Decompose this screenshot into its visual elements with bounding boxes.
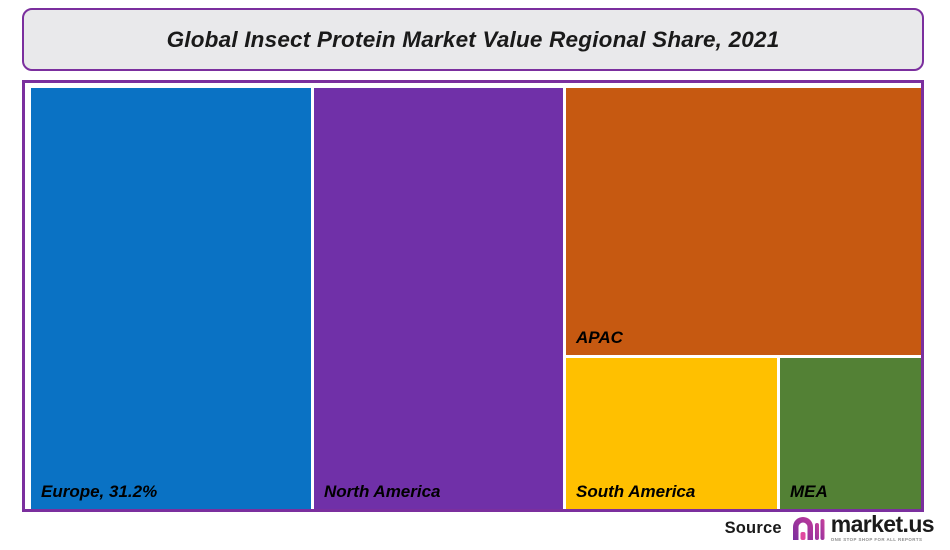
treemap-tile-apac[interactable]: APAC: [566, 88, 921, 355]
brand-tagline: ONE STOP SHOP FOR ALL REPORTS: [831, 538, 934, 542]
treemap-tile-south-america[interactable]: South America: [566, 358, 777, 509]
treemap-tile-europe[interactable]: Europe, 31.2%: [31, 88, 311, 509]
market-us-logo[interactable]: market.us ONE STOP SHOP FOR ALL REPORTS: [791, 513, 934, 542]
treemap-tile-north-america[interactable]: North America: [314, 88, 563, 509]
source-label: Source: [725, 519, 782, 538]
chart-title-panel: Global Insect Protein Market Value Regio…: [22, 8, 924, 71]
treemap-tile-label-south-america: South America: [576, 483, 695, 502]
treemap-tile-label-mea: MEA: [790, 483, 828, 502]
treemap-tile-mea[interactable]: MEA: [780, 358, 921, 509]
brand-name: market.us: [831, 513, 934, 536]
treemap-tile-label-north-america: North America: [324, 483, 441, 502]
source-bar: Source: [725, 508, 934, 548]
market-us-bars-logo-icon: [791, 515, 825, 542]
plot-frame: Europe, 31.2% North America APAC South A…: [22, 80, 924, 512]
treemap-tile-label-apac: APAC: [576, 329, 623, 348]
treemap: Europe, 31.2% North America APAC South A…: [25, 83, 921, 509]
page-title: Global Insect Protein Market Value Regio…: [167, 27, 780, 53]
treemap-tile-label-europe: Europe, 31.2%: [41, 483, 157, 502]
brand-text: market.us ONE STOP SHOP FOR ALL REPORTS: [831, 513, 934, 542]
chart-canvas: Global Insect Protein Market Value Regio…: [0, 0, 950, 550]
